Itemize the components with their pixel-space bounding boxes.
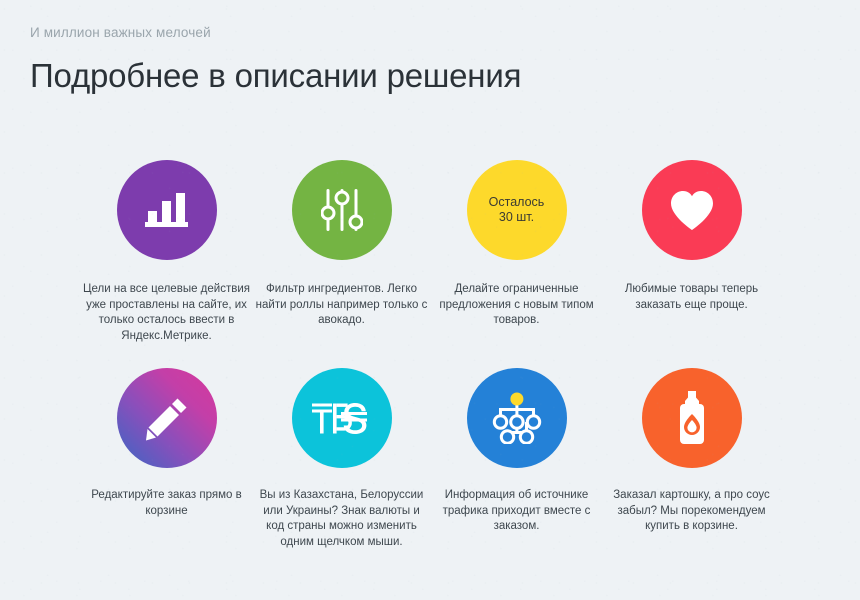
feature-item-traffic-source[interactable]: Информация об источнике трафика приходит… <box>429 368 604 550</box>
stock-badge-text: Осталось 30 шт. <box>489 195 545 225</box>
feature-icon-circle[interactable] <box>467 368 567 468</box>
feature-caption: Редактируйте заказ прямо в корзине <box>81 488 253 519</box>
feature-icon-circle[interactable] <box>117 368 217 468</box>
feature-icon-circle[interactable] <box>642 368 742 468</box>
feature-row-2: Редактируйте заказ прямо в корзине <box>0 368 860 550</box>
feature-row-1: Цели на все целевые действия уже простав… <box>0 160 860 344</box>
sliders-filter-icon <box>321 187 363 233</box>
feature-caption: Фильтр ингредиентов. Легко найти роллы н… <box>256 282 428 329</box>
stock-badge-line-1: Осталось <box>489 195 545 210</box>
feature-item-currency-country[interactable]: Вы из Казахстана, Белоруссии или Украины… <box>254 368 429 550</box>
feature-caption: Заказал картошку, а про соус забыл? Мы п… <box>606 488 778 535</box>
currency-symbols-icon <box>311 401 373 435</box>
feature-icon-circle[interactable] <box>117 160 217 260</box>
heart-icon <box>668 188 716 232</box>
feature-item-ingredient-filter[interactable]: Фильтр ингредиентов. Легко найти роллы н… <box>254 160 429 344</box>
eyebrow-text: И миллион важных мелочей <box>30 24 521 42</box>
page-header: И миллион важных мелочей Подробнее в опи… <box>30 24 521 96</box>
hierarchy-tree-icon <box>490 392 544 444</box>
stock-badge-line-2: 30 шт. <box>489 210 545 225</box>
feature-caption: Вы из Казахстана, Белоруссии или Украины… <box>256 488 428 550</box>
feature-item-goals-metrica[interactable]: Цели на все целевые действия уже простав… <box>79 160 254 344</box>
feature-item-favorites[interactable]: Любимые товары теперь заказать еще проще… <box>604 160 779 344</box>
page-title: Подробнее в описании решения <box>30 56 521 96</box>
feature-icon-circle[interactable] <box>292 368 392 468</box>
pencil-icon <box>144 395 190 441</box>
feature-grid: Цели на все целевые действия уже простав… <box>0 160 860 550</box>
feature-caption: Информация об источнике трафика приходит… <box>431 488 603 535</box>
bar-chart-icon <box>144 189 190 231</box>
feature-item-limited-offers[interactable]: Осталось 30 шт. Делайте ограниченные пре… <box>429 160 604 344</box>
feature-icon-circle[interactable] <box>292 160 392 260</box>
sauce-bottle-icon <box>674 390 710 446</box>
feature-item-edit-in-cart[interactable]: Редактируйте заказ прямо в корзине <box>79 368 254 550</box>
feature-caption: Делайте ограниченные предложения с новым… <box>431 282 603 329</box>
feature-icon-circle[interactable]: Осталось 30 шт. <box>467 160 567 260</box>
feature-icon-circle[interactable] <box>642 160 742 260</box>
feature-caption: Цели на все целевые действия уже простав… <box>81 282 253 344</box>
feature-item-sauce-recommend[interactable]: Заказал картошку, а про соус забыл? Мы п… <box>604 368 779 550</box>
feature-caption: Любимые товары теперь заказать еще проще… <box>606 282 778 313</box>
